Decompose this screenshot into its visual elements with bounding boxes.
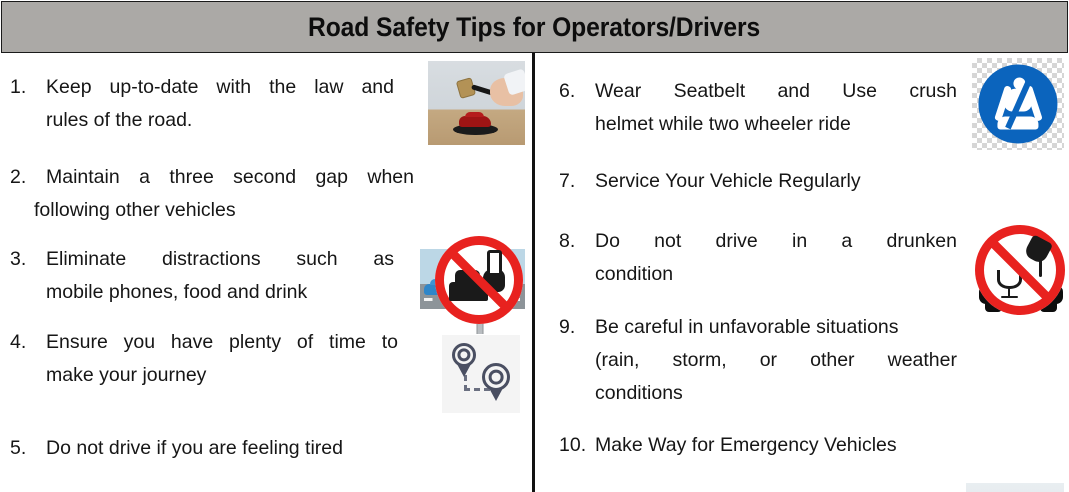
list-item-text: Keep up-to-date with the law and rules o… (46, 71, 394, 137)
list-item-text: Service Your Vehicle Regularly (595, 165, 957, 198)
list-item-text: Be careful in unfavorable situations (ra… (595, 311, 957, 410)
right-tips-column: 6. Wear Seatbelt and Use crush helmet wh… (535, 53, 1069, 492)
list-item: 4. Ensure you have plenty of time to mak… (0, 326, 420, 392)
list-item: 1. Keep up-to-date with the law and rule… (0, 71, 420, 137)
list-item-text: Ensure you have plenty of time to make y… (46, 326, 398, 392)
map-pin-start-tail (457, 364, 471, 377)
list-item: 5. Do not drive if you are feeling tired (0, 432, 420, 465)
list-item: 3. Eliminate distractions such as mobile… (0, 243, 420, 309)
no-alcohol-drink-driving-sign (975, 225, 1069, 317)
list-item-text: Make Way for Emergency Vehicles (595, 429, 965, 462)
list-item: 2. Maintain a three second gap when foll… (0, 161, 425, 227)
list-item-text: Eliminate distractions such as mobile ph… (46, 243, 394, 309)
list-item-number: 3. (0, 243, 46, 276)
map-pin-end-icon (482, 363, 510, 391)
list-item-number: 7. (549, 165, 595, 198)
list-item-text: Wear Seatbelt and Use crush helmet while… (595, 75, 957, 141)
list-item-number: 8. (549, 225, 595, 258)
list-item: 8. Do not drive in a drunken condition (549, 225, 979, 291)
list-item: 9. Be careful in unfavorable situations … (549, 311, 979, 410)
list-item: 7. Service Your Vehicle Regularly (549, 165, 979, 198)
list-item-number: 5. (0, 432, 46, 465)
blue-circle (978, 64, 1057, 143)
judge-gavel-car-photo (428, 61, 525, 145)
wear-seatbelt-mandatory-sign (972, 58, 1064, 150)
list-item: 10. Make Way for Emergency Vehicles (549, 429, 979, 462)
list-item-number: 4. (0, 326, 46, 359)
tips-columns: 1. Keep up-to-date with the law and rule… (0, 53, 1069, 492)
slide-title-bar: Road Safety Tips for Operators/Drivers (1, 1, 1068, 53)
no-mobile-phone-while-driving-sign (432, 236, 528, 334)
route-map-pins-icon (442, 335, 520, 413)
list-item-number: 2. (0, 161, 46, 194)
list-item-text: Maintain a three second gap when followi… (46, 161, 414, 227)
road-safety-tips-slide: Road Safety Tips for Operators/Drivers 1… (0, 0, 1069, 492)
pouring-stream (1039, 254, 1042, 277)
prohibition-circle (435, 236, 523, 324)
mobile-phone-glyph (487, 250, 502, 276)
list-item-number: 1. (0, 71, 46, 104)
list-item-number: 6. (549, 75, 595, 108)
glass-foot (1001, 296, 1018, 298)
list-item-text: Do not drive if you are feeling tired (46, 432, 406, 465)
list-item-number: 9. (549, 311, 595, 344)
toy-car (459, 116, 491, 126)
list-item-number: 10. (549, 429, 595, 462)
left-tips-column: 1. Keep up-to-date with the law and rule… (0, 53, 532, 492)
occupant-lap (997, 117, 1038, 130)
list-item-text: Do not drive in a drunken condition (595, 225, 957, 291)
map-pin-end-tail (489, 388, 503, 401)
page-title: Road Safety Tips for Operators/Drivers (308, 12, 760, 43)
list-item: 6. Wear Seatbelt and Use crush helmet wh… (549, 75, 979, 141)
snow-storm-road-photo (966, 483, 1064, 492)
prohibition-circle (975, 225, 1065, 315)
